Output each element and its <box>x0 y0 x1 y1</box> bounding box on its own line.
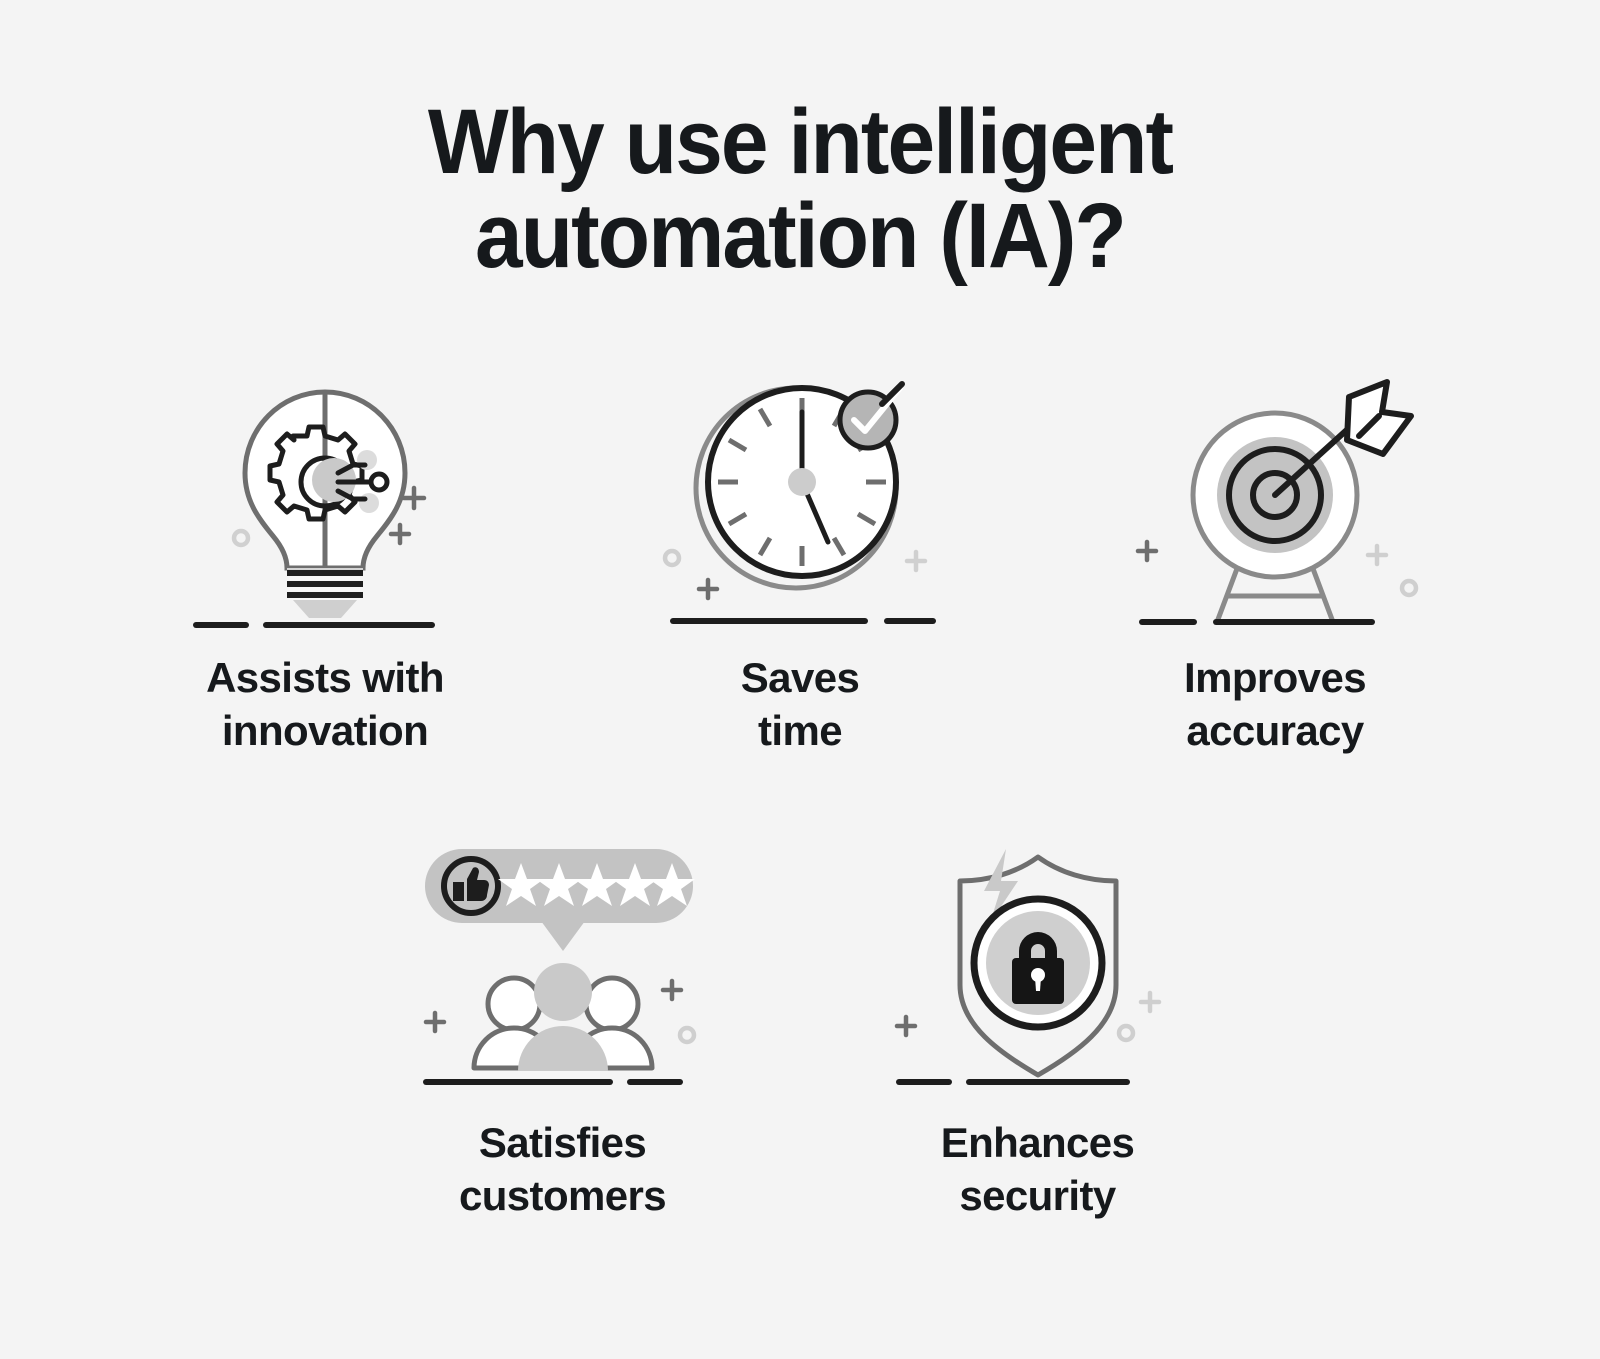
sparkle-plus-icon <box>1368 546 1386 564</box>
sparkle-circle-icon <box>1119 1026 1133 1040</box>
clock-check-icon <box>650 370 950 630</box>
feature-label-line-2: security <box>941 1170 1135 1223</box>
sparkle-circle-icon <box>234 531 248 545</box>
page-title: Why use intelligent automation (IA)? <box>56 96 1544 284</box>
feature-label: Enhances security <box>941 1117 1135 1223</box>
page-title-line-1: Why use intelligent <box>56 96 1544 190</box>
feature-label: Satisfies customers <box>459 1117 666 1223</box>
feature-label-line-2: accuracy <box>1184 705 1366 758</box>
sparkle-plus-icon <box>1141 993 1159 1011</box>
sparkle-plus-icon <box>897 1017 915 1035</box>
feature-improves-accuracy: Improves accuracy <box>1038 370 1513 758</box>
sparkle-plus-icon <box>699 580 717 598</box>
feature-saves-time: Saves time <box>563 370 1038 758</box>
feature-label-line-1: Enhances <box>941 1117 1135 1170</box>
feature-label-line-1: Satisfies <box>459 1117 666 1170</box>
feature-label: Improves accuracy <box>1184 652 1366 758</box>
sparkle-circle-icon <box>1402 581 1416 595</box>
feature-satisfies-customers: Satisfies customers <box>325 835 800 1223</box>
sparkle-circle-icon <box>665 551 679 565</box>
infographic-page: Why use intelligent automation (IA)? <box>0 0 1600 1359</box>
sparkle-plus-icon <box>1138 542 1156 560</box>
sparkle-plus-icon <box>907 552 925 570</box>
review-stars-people-icon <box>413 835 713 1095</box>
feature-row-top: Assists with innovation <box>0 370 1600 758</box>
feature-label-line-1: Saves <box>741 652 859 705</box>
person-right-head <box>586 978 638 1030</box>
feature-label-line-2: customers <box>459 1170 666 1223</box>
feature-label-line-2: innovation <box>206 705 444 758</box>
feature-label: Assists with innovation <box>206 652 444 758</box>
feature-row-bottom: Satisfies customers <box>0 835 1600 1223</box>
feature-label-line-1: Improves <box>1184 652 1366 705</box>
feature-assists-with-innovation: Assists with innovation <box>88 370 563 758</box>
feature-label-line-1: Assists with <box>206 652 444 705</box>
lightbulb-gear-icon <box>175 370 475 630</box>
target-arrow-icon <box>1125 370 1425 630</box>
feature-label-line-2: time <box>741 705 859 758</box>
feature-label: Saves time <box>741 652 859 758</box>
page-title-line-2: automation (IA)? <box>56 190 1544 284</box>
clock-center-hub <box>788 468 816 496</box>
person-center-head <box>534 963 592 1021</box>
person-left-head <box>488 978 540 1030</box>
sparkle-circle-icon <box>680 1028 694 1042</box>
shield-lock-icon <box>888 835 1188 1095</box>
feature-enhances-security: Enhances security <box>800 835 1275 1223</box>
